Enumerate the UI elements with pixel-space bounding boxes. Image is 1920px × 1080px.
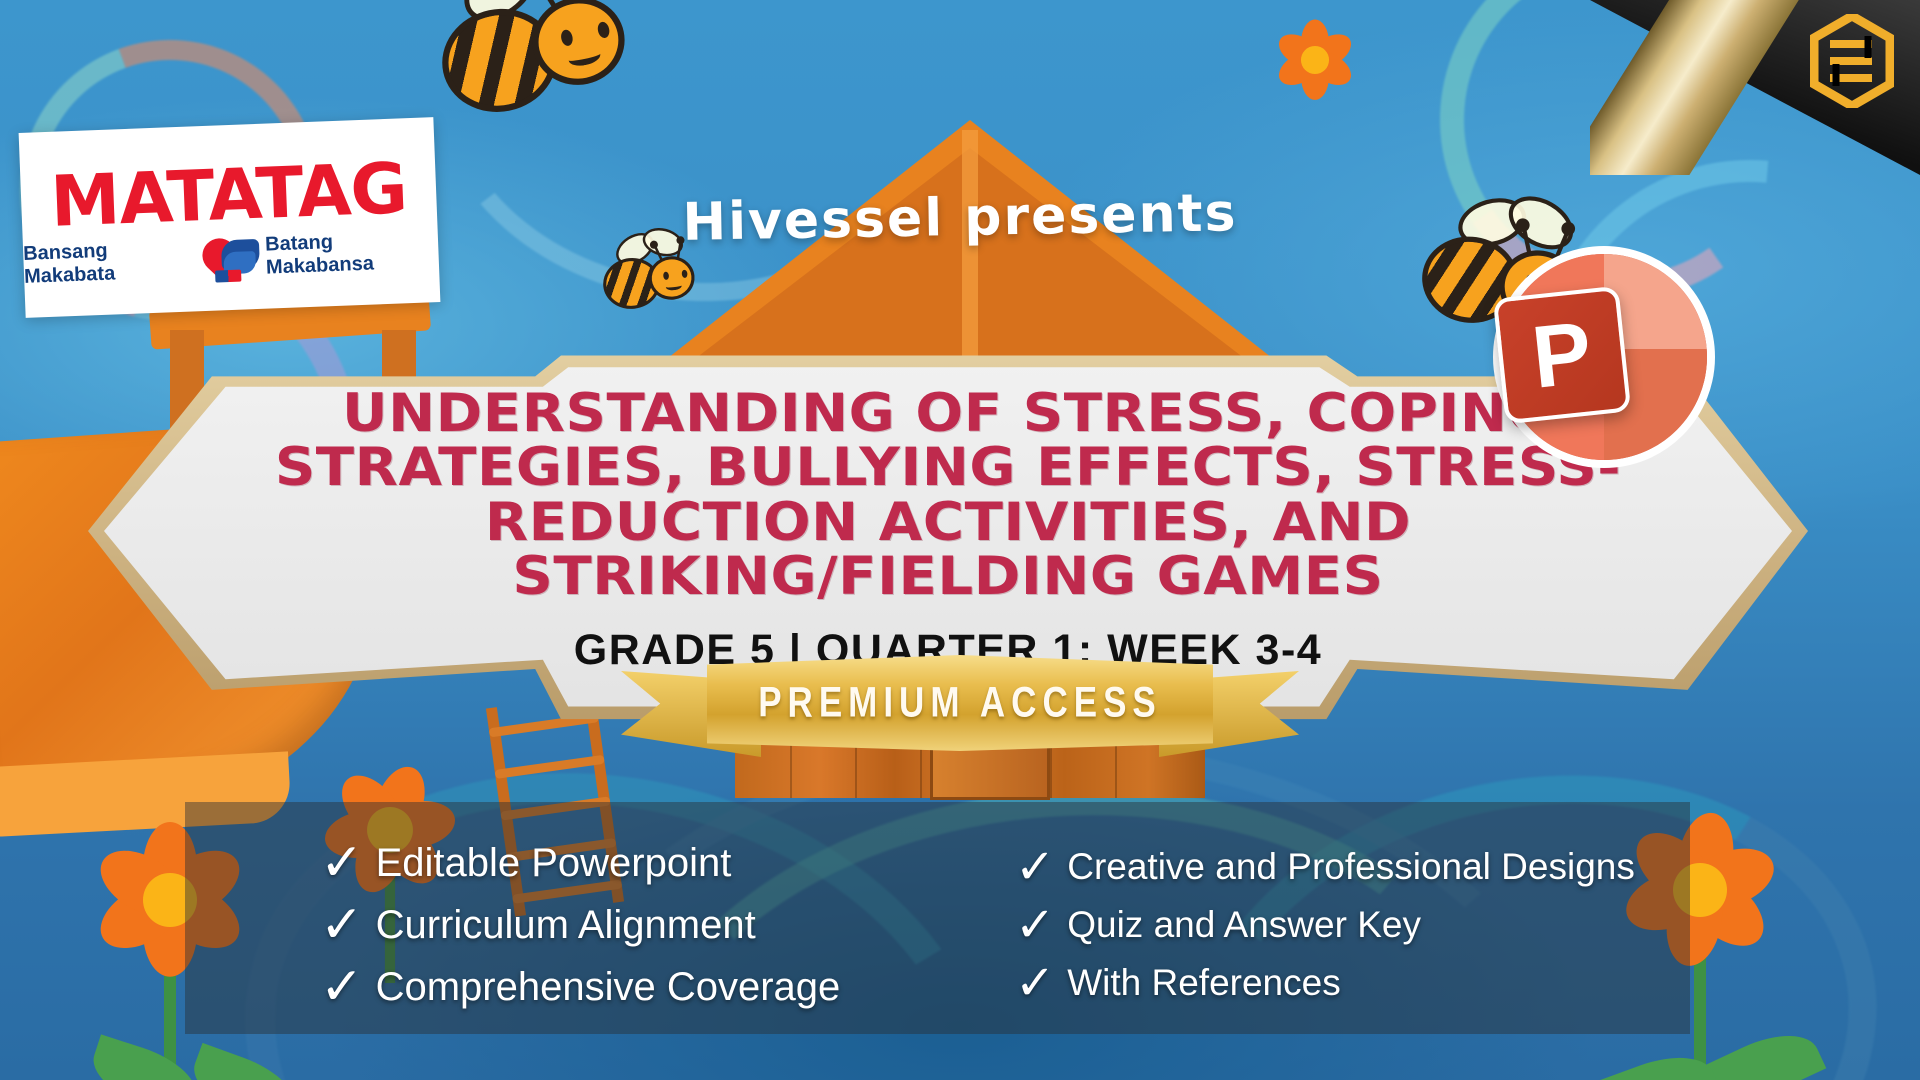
check-icon: ✓ <box>320 961 364 1013</box>
feature-item: ✓ Curriculum Alignment <box>320 899 995 951</box>
check-icon: ✓ <box>1015 959 1055 1007</box>
feature-label: Comprehensive Coverage <box>376 965 841 1010</box>
feature-label: Quiz and Answer Key <box>1067 904 1421 946</box>
check-icon: ✓ <box>320 899 364 951</box>
hivessel-hex-icon <box>1810 14 1894 108</box>
powerpoint-letter: P <box>1528 308 1596 402</box>
feature-item: ✓ Quiz and Answer Key <box>1015 901 1690 949</box>
premium-access-ribbon: PREMIUM ACCESS <box>635 655 1285 765</box>
feature-item: ✓ Comprehensive Coverage <box>320 961 995 1013</box>
feature-item: ✓ With References <box>1015 959 1690 1007</box>
feature-label: Creative and Professional Designs <box>1067 846 1635 888</box>
slide-cover: MATATAG Bansang Makabata Batang Makabans… <box>0 0 1920 1080</box>
feature-label: Editable Powerpoint <box>376 841 732 886</box>
ribbon-label: PREMIUM ACCESS <box>758 679 1162 728</box>
features-column-right: ✓ Creative and Professional Designs ✓ Qu… <box>995 816 1690 1034</box>
page-title: UNDERSTANDING OF STRESS, COPING STRATEGI… <box>174 387 1722 603</box>
feature-item: ✓ Creative and Professional Designs <box>1015 843 1690 891</box>
page-curl-corner <box>1590 0 1920 175</box>
features-column-left: ✓ Editable Powerpoint ✓ Curriculum Align… <box>185 816 995 1034</box>
powerpoint-icon: P <box>1493 246 1715 468</box>
check-icon: ✓ <box>1015 843 1055 891</box>
check-icon: ✓ <box>1015 901 1055 949</box>
ribbon-body: PREMIUM ACCESS <box>707 655 1213 751</box>
check-icon: ✓ <box>320 837 364 889</box>
feature-item: ✓ Editable Powerpoint <box>320 837 995 889</box>
feature-label: Curriculum Alignment <box>376 903 756 948</box>
feature-label: With References <box>1067 962 1341 1004</box>
features-panel: ✓ Editable Powerpoint ✓ Curriculum Align… <box>185 802 1690 1034</box>
